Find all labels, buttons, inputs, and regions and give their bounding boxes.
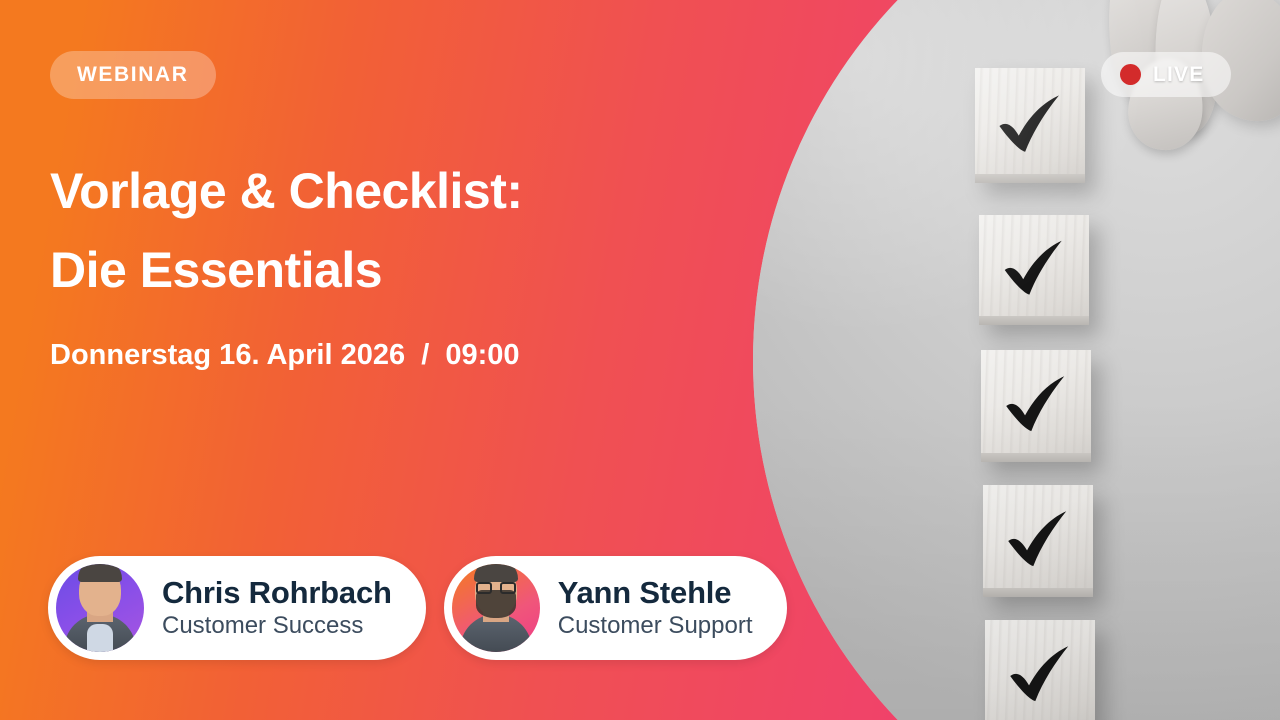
check-cube [985, 620, 1095, 720]
speaker-card[interactable]: Yann Stehle Customer Support [444, 556, 787, 660]
webinar-banner: WEBINAR LIVE Vorlage & Checklist: Die Es… [0, 0, 1280, 720]
check-cube [979, 215, 1089, 325]
check-cube [983, 485, 1093, 597]
schedule-text: Donnerstag 16. April 2026 / 09:00 [50, 338, 520, 373]
title-line-2: Die Essentials [50, 231, 750, 310]
page-title: Vorlage & Checklist: Die Essentials [50, 152, 750, 310]
checkmark-icon [997, 635, 1083, 713]
checkmark-icon [993, 365, 1079, 443]
avatar [452, 564, 540, 652]
check-cube [975, 68, 1085, 183]
speaker-list: Chris Rohrbach Customer Success Yann [48, 556, 787, 660]
live-dot-icon [1120, 64, 1141, 85]
live-badge-label: LIVE [1153, 64, 1204, 85]
check-cube [981, 350, 1091, 462]
avatar [56, 564, 144, 652]
speaker-card[interactable]: Chris Rohrbach Customer Success [48, 556, 426, 660]
checklist-photo-panel [753, 0, 1280, 720]
live-badge: LIVE [1101, 52, 1231, 97]
webinar-badge: WEBINAR [50, 51, 216, 99]
glasses-icon [476, 582, 516, 594]
speaker-role: Customer Support [558, 611, 753, 641]
photo-background [753, 0, 1280, 720]
speaker-role: Customer Success [162, 611, 392, 641]
speaker-name: Chris Rohrbach [162, 575, 392, 611]
checkmark-icon [987, 84, 1073, 165]
title-line-1: Vorlage & Checklist: [50, 152, 750, 231]
speaker-name: Yann Stehle [558, 575, 753, 611]
checkmark-icon [995, 500, 1081, 578]
checkmark-icon [991, 230, 1077, 307]
